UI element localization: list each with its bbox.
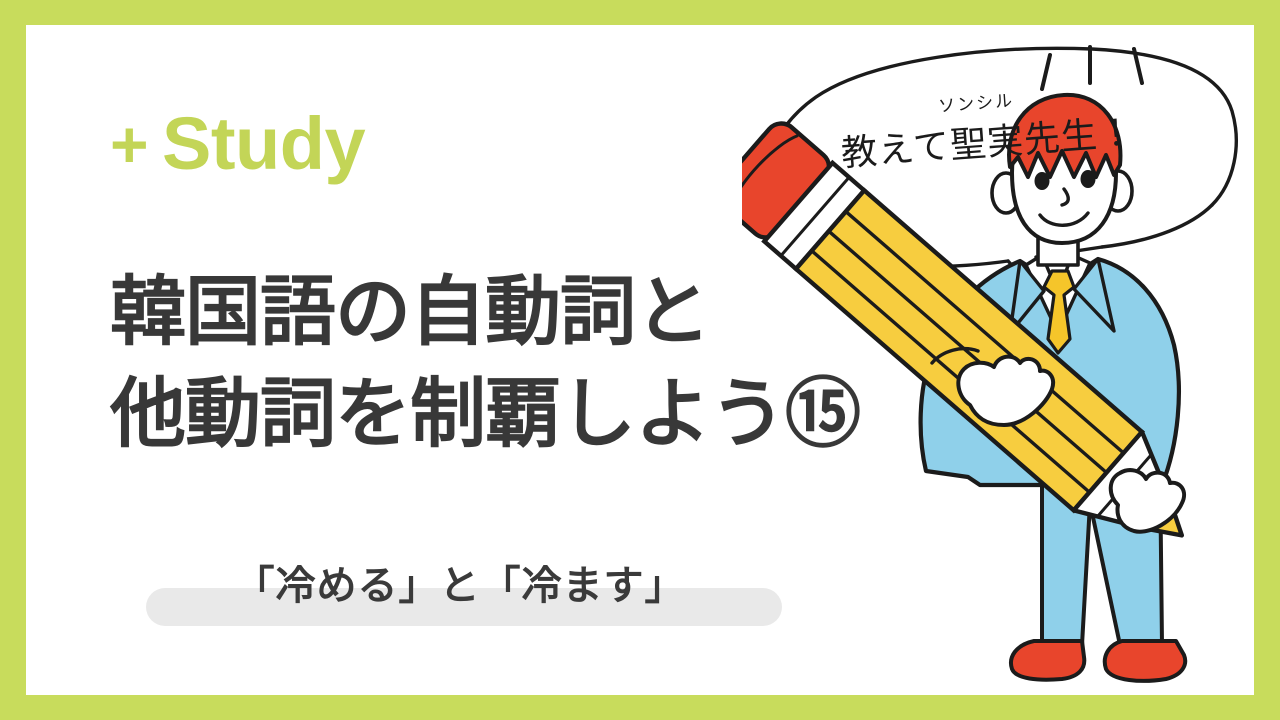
thumbnail-canvas: +Study 韓国語の自動詞と 他動詞を制覇しよう⑮ 「冷める」と「冷ます」 xyxy=(0,0,1280,720)
brand-label: Study xyxy=(162,102,365,185)
brand-eyebrow: +Study xyxy=(110,107,365,181)
character-eye-right xyxy=(1081,170,1096,188)
content-panel: +Study 韓国語の自動詞と 他動詞を制覇しよう⑮ 「冷める」と「冷ます」 xyxy=(26,25,1254,695)
character-shoe-right xyxy=(1105,641,1185,681)
illustration: ソンシル 教えて聖実先生！ xyxy=(742,33,1254,695)
plus-icon: + xyxy=(110,107,148,181)
subtitle-text: 「冷める」と「冷ます」 xyxy=(110,553,810,611)
character-eye-left xyxy=(1035,172,1050,190)
character-shoe-left xyxy=(1011,641,1084,680)
emotion-stroke-left xyxy=(1042,55,1050,89)
subtitle-block: 「冷める」と「冷ます」 xyxy=(110,541,810,637)
